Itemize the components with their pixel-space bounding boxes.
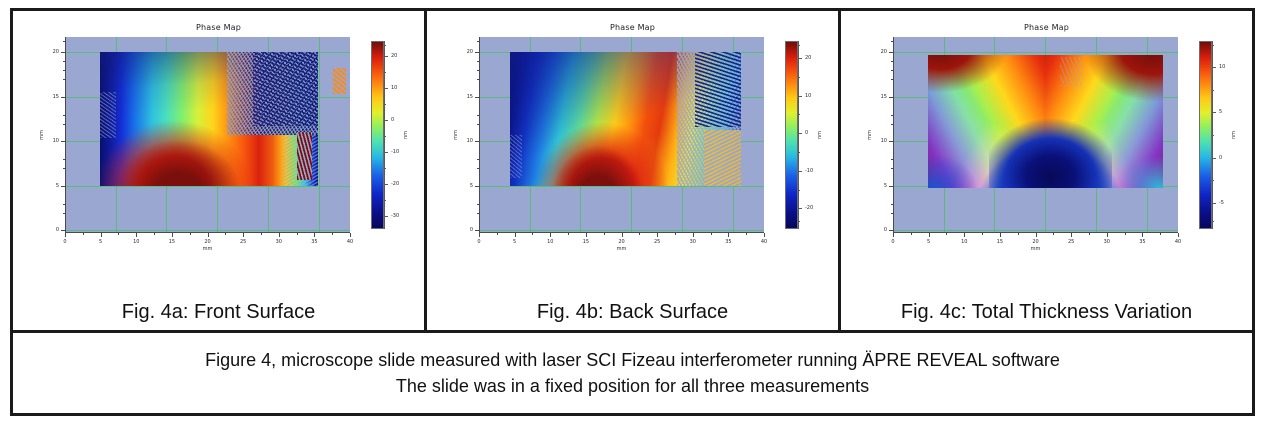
figure-caption: Figure 4, microscope slide measured with… — [191, 347, 1074, 399]
x-axis-label-4b: mm — [617, 246, 627, 252]
panel-fig-4c: Phase Map — [838, 11, 1252, 330]
colorbar-unit-4b: nm — [817, 131, 823, 139]
plot-area-4b: Phase Map — [427, 11, 838, 273]
figure-caption-line-1: Figure 4, microscope slide measured with… — [205, 350, 1060, 370]
heatmap-4b — [510, 52, 741, 186]
y-axis-label-4c: mm — [867, 130, 873, 140]
axes-4c: 20 15 10 5 0 0 5 10 15 20 25 30 — [893, 37, 1178, 233]
colorbar-4c: 10 5 0 -5 nm — [1199, 41, 1245, 229]
figure-caption-block: Figure 4, microscope slide measured with… — [13, 330, 1252, 413]
figure-caption-line-2: The slide was in a fixed position for al… — [396, 376, 869, 396]
heatmap-4a — [100, 52, 318, 186]
colorbar-unit-4a: nm — [403, 131, 409, 139]
plot-area-4c: Phase Map — [841, 11, 1252, 273]
plot-area-4a: Phase Map — [13, 11, 424, 273]
axes-4a: 20 15 10 5 0 0 5 10 15 20 25 — [65, 37, 350, 233]
axes-4b: 20 15 10 5 0 0 5 10 15 20 25 30 — [479, 37, 764, 233]
x-axis-label-4a: mm — [203, 246, 213, 252]
subcaption-fig-4b: Fig. 4b: Back Surface — [427, 301, 838, 324]
colorbar-4a: 20 10 0 -10 -20 -30 nm — [371, 41, 417, 229]
x-axis-label-4c: mm — [1031, 246, 1041, 252]
panels-row: Phase Map — [13, 11, 1252, 330]
heatmap-4c — [928, 55, 1163, 188]
panel-fig-4b: Phase Map — [424, 11, 838, 330]
panel-fig-4a: Phase Map — [13, 11, 424, 330]
colorbar-unit-4c: nm — [1231, 131, 1237, 139]
chart-title-4a: Phase Map — [13, 23, 424, 32]
colorbar-4b: 20 10 0 -10 -20 nm — [785, 41, 831, 229]
y-axis-label-4a: mm — [39, 130, 45, 140]
figure-frame: Phase Map — [10, 8, 1255, 416]
chart-title-4c: Phase Map — [841, 23, 1252, 32]
chart-title-4b: Phase Map — [427, 23, 838, 32]
subcaption-fig-4a: Fig. 4a: Front Surface — [13, 301, 424, 324]
y-axis-label-4b: mm — [453, 130, 459, 140]
subcaption-fig-4c: Fig. 4c: Total Thickness Variation — [841, 301, 1252, 324]
